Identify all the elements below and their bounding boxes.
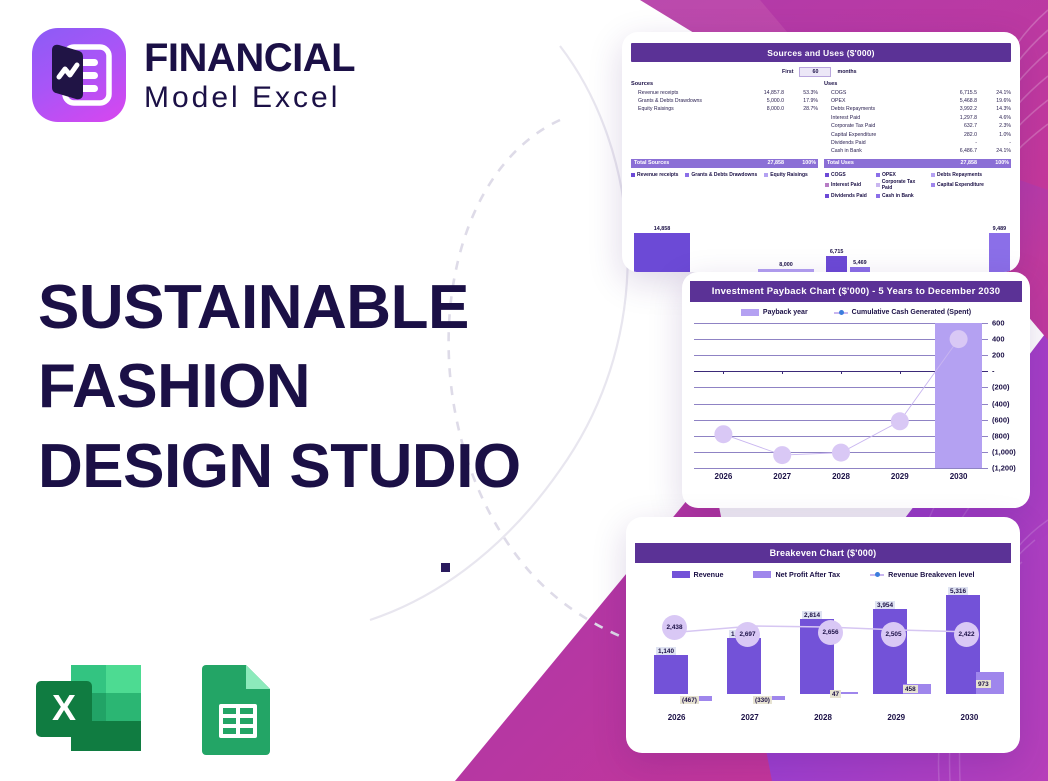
- table-row: Capital Expenditure 282.0 1.0%: [824, 131, 1011, 139]
- total-amount: 27,858: [933, 160, 977, 166]
- headline-line-2: FASHION: [38, 347, 521, 426]
- row-percent: 24.1%: [977, 89, 1011, 97]
- svg-text:X: X: [52, 687, 76, 728]
- y-tick-label: (1,200): [992, 464, 1016, 473]
- brand-logo: FINANCIAL Model Excel: [32, 28, 355, 122]
- legend-label: COGS: [831, 172, 846, 178]
- legend-label: Interest Paid: [831, 182, 861, 188]
- breakeven-bubble: 2,422: [954, 622, 979, 647]
- legend-item-net-profit: Net Profit After Tax: [753, 570, 840, 579]
- uses-total-row: Total Uses 27,858 100%: [824, 159, 1011, 168]
- chart-sources-bars: 14,858 5,000 8,000: [631, 206, 817, 272]
- payback-plot: 600 400 200 - (200) (400) (600) (800) (1…: [694, 323, 988, 468]
- legend-item: Dividends Paid: [825, 193, 869, 199]
- bar-value-label: 14,858: [654, 226, 671, 232]
- bar: [989, 233, 1009, 272]
- legend-label: Capital Expenditure: [937, 182, 984, 188]
- months-suffix-label: months: [837, 69, 856, 75]
- row-amount: 282.0: [933, 131, 977, 139]
- microsoft-excel-icon[interactable]: X: [34, 660, 146, 756]
- chart-document-icon: [32, 28, 126, 122]
- legend-label: OPEX: [882, 172, 896, 178]
- legend-label: Cash in Bank: [882, 193, 914, 199]
- x-tick-label: 2030: [929, 472, 988, 481]
- row-percent: -: [977, 139, 1011, 147]
- payback-title: Investment Payback Chart ($'000) - 5 Yea…: [690, 281, 1022, 302]
- y-tick-label: (400): [992, 399, 1010, 408]
- legend-uses: COGS OPEX Debts Repayments Interest Paid…: [825, 172, 1011, 201]
- row-percent: 14.3%: [977, 105, 1011, 113]
- legend-label: Revenue receipts: [637, 172, 678, 178]
- sources-total-row: Total Sources 27,858 100%: [631, 159, 818, 168]
- uses-table: Uses COGS 6,715.5 24.1% OPEX 5,468.8 19.…: [824, 81, 1011, 168]
- card-breakeven: Breakeven Chart ($'000) Revenue Net Prof…: [626, 517, 1020, 753]
- page-title: SUSTAINABLE FASHION DESIGN STUDIO: [38, 268, 521, 506]
- payback-y-axis: 600 400 200 - (200) (400) (600) (800) (1…: [988, 323, 1028, 468]
- bar: [826, 256, 846, 272]
- row-amount: 14,857.8: [740, 89, 784, 97]
- row-percent: 53.3%: [784, 89, 818, 97]
- y-tick-label: (1,000): [992, 447, 1016, 456]
- row-label: Interest Paid: [824, 114, 933, 122]
- legend-label: Grants & Debts Drawdowns: [691, 172, 757, 178]
- legend-sources: Revenue receipts Grants & Debts Drawdown…: [631, 172, 817, 201]
- legend-item: Grants & Debts Drawdowns: [685, 172, 757, 178]
- breakeven-bubble: 2,697: [735, 622, 760, 647]
- x-tick-label: 2028: [786, 713, 859, 722]
- net-profit-label: (467): [680, 696, 699, 704]
- y-tick-label: -: [992, 367, 995, 376]
- x-tick-label: 2027: [753, 472, 812, 481]
- legend-label: Revenue Breakeven level: [888, 570, 974, 579]
- y-tick-label: (200): [992, 383, 1010, 392]
- row-label: Equity Raisings: [631, 105, 740, 113]
- row-percent: 2.3%: [977, 122, 1011, 130]
- x-tick-label: 2028: [812, 472, 871, 481]
- table-row: OPEX 5,468.8 19.6%: [824, 97, 1011, 105]
- row-amount: 3,992.2: [933, 105, 977, 113]
- total-percent: 100%: [784, 160, 818, 166]
- legend-item: COGS: [825, 172, 869, 178]
- legend-label: Revenue: [694, 570, 724, 579]
- row-label: Corporate Tax Paid: [824, 122, 933, 130]
- brand-subtitle: Model Excel: [144, 83, 355, 113]
- card-investment-payback: Investment Payback Chart ($'000) - 5 Yea…: [682, 272, 1030, 508]
- legend-label: Cumulative Cash Generated (Spent): [852, 309, 971, 316]
- row-label: OPEX: [824, 97, 933, 105]
- legend-label: Dividends Paid: [831, 193, 867, 199]
- legend-label: Equity Raisings: [770, 172, 808, 178]
- total-percent: 100%: [977, 160, 1011, 166]
- cumulative-cash-markers: [694, 323, 988, 468]
- row-amount: -: [933, 139, 977, 147]
- x-tick-label: 2027: [713, 713, 786, 722]
- uses-heading: Uses: [824, 81, 1011, 87]
- row-label: Cash in Bank: [824, 147, 933, 155]
- row-amount: 6,486.7: [933, 147, 977, 155]
- legend-item: Interest Paid: [825, 179, 869, 191]
- payback-legend: Payback year Cumulative Cash Generated (…: [682, 309, 1030, 316]
- breakeven-plot: 1,140 (467) 2,438 1,848 (330) 2,697 2,81…: [640, 585, 1006, 695]
- row-amount: 8,000.0: [740, 105, 784, 113]
- legend-item: Equity Raisings: [764, 172, 808, 178]
- headline-line-3: DESIGN STUDIO: [38, 427, 521, 506]
- table-row: Cash in Bank 6,486.7 24.1%: [824, 147, 1011, 155]
- legend-item: OPEX: [876, 172, 924, 178]
- row-amount: 1,297.8: [933, 114, 977, 122]
- legend-item: Cash in Bank: [876, 193, 924, 199]
- breakeven-bubble: 2,438: [662, 615, 687, 640]
- row-label: COGS: [824, 89, 933, 97]
- legend-item: Debts Repayments: [931, 172, 982, 178]
- x-tick-label: 2026: [640, 713, 713, 722]
- legend-label: Corporate Tax Paid: [882, 179, 924, 191]
- breakeven-bubble: 2,505: [881, 622, 906, 647]
- y-tick-label: 200: [992, 351, 1005, 360]
- logo-mark: [32, 28, 126, 122]
- table-row: Grants & Debts Drawdowns 5,000.0 17.9%: [631, 97, 818, 105]
- google-sheets-icon[interactable]: [198, 660, 278, 756]
- sources-table: Sources Revenue receipts 14,857.8 53.3% …: [631, 81, 818, 168]
- breakeven-x-axis: 2026 2027 2028 2029 2030: [640, 713, 1006, 722]
- bar-value-label: 5,469: [853, 260, 867, 266]
- months-input[interactable]: 60: [799, 67, 831, 77]
- sources-uses-charts: 14,858 5,000 8,000 6,715: [622, 200, 1020, 272]
- legend-item-breakeven-level: Revenue Breakeven level: [870, 570, 974, 579]
- breakeven-legend: Revenue Net Profit After Tax Revenue Bre…: [626, 570, 1020, 579]
- x-tick-label: 2029: [870, 472, 929, 481]
- app-icons: X: [34, 660, 278, 756]
- x-tick-label: 2029: [860, 713, 933, 722]
- sources-uses-title: Sources and Uses ($'000): [631, 43, 1011, 62]
- bar: [634, 233, 690, 272]
- months-input-row: First 60 months: [622, 67, 1020, 77]
- row-label: Dividends Paid: [824, 139, 933, 147]
- y-tick-label: 400: [992, 335, 1005, 344]
- chart-uses-bars: 6,715 5,469 3,992 1,298 633 282 0 9,489: [825, 206, 1011, 272]
- headline-line-1: SUSTAINABLE: [38, 268, 521, 347]
- row-amount: 632.7: [933, 122, 977, 130]
- months-prefix-label: First: [782, 69, 793, 75]
- bar-value-label: 6,715: [830, 249, 844, 255]
- breakeven-title: Breakeven Chart ($'000): [635, 543, 1011, 563]
- card-sources-and-uses: Sources and Uses ($'000) First 60 months…: [622, 32, 1020, 272]
- y-tick-label: 600: [992, 319, 1005, 328]
- payback-x-axis: 2026 2027 2028 2029 2030: [694, 472, 988, 481]
- legend-label: Net Profit After Tax: [775, 570, 840, 579]
- legend-item-payback-year: Payback year: [741, 309, 808, 316]
- brand-title: FINANCIAL: [144, 38, 355, 78]
- legend-item: Capital Expenditure: [931, 179, 984, 191]
- poster-canvas: FINANCIAL Model Excel SUSTAINABLE FASHIO…: [0, 0, 1048, 781]
- table-row: Interest Paid 1,297.8 4.6%: [824, 114, 1011, 122]
- total-label: Total Uses: [824, 160, 933, 166]
- row-percent: 4.6%: [977, 114, 1011, 122]
- x-tick-label: 2030: [933, 713, 1006, 722]
- breakeven-bubble: 2,656: [818, 620, 843, 645]
- row-label: Grants & Debts Drawdowns: [631, 97, 740, 105]
- row-percent: 1.0%: [977, 131, 1011, 139]
- table-spacer: [631, 114, 818, 156]
- row-label: Revenue receipts: [631, 89, 740, 97]
- row-label: Capital Expenditure: [824, 131, 933, 139]
- row-percent: 28.7%: [784, 105, 818, 113]
- bar-value-label: 8,000: [779, 262, 793, 268]
- legend-label: Debts Repayments: [937, 172, 982, 178]
- total-amount: 27,858: [740, 160, 784, 166]
- table-row: Dividends Paid - -: [824, 139, 1011, 147]
- net-profit-label: (330): [753, 696, 772, 704]
- legend-item-revenue: Revenue: [672, 570, 724, 579]
- row-label: Debts Repayments: [824, 105, 933, 113]
- sources-heading: Sources: [631, 81, 818, 87]
- row-amount: 5,000.0: [740, 97, 784, 105]
- sources-uses-legends: Revenue receipts Grants & Debts Drawdown…: [622, 168, 1020, 201]
- legend-item: Corporate Tax Paid: [876, 179, 924, 191]
- y-tick-label: (600): [992, 415, 1010, 424]
- table-row: Revenue receipts 14,857.8 53.3%: [631, 89, 818, 97]
- legend-item-cumulative-cash: Cumulative Cash Generated (Spent): [834, 309, 971, 316]
- row-amount: 6,715.5: [933, 89, 977, 97]
- x-tick-label: 2026: [694, 472, 753, 481]
- bar-value-label: 9,489: [993, 226, 1007, 232]
- table-row: Corporate Tax Paid 632.7 2.3%: [824, 122, 1011, 130]
- total-label: Total Sources: [631, 160, 740, 166]
- y-tick-label: (800): [992, 431, 1010, 440]
- legend-item: Revenue receipts: [631, 172, 678, 178]
- row-percent: 19.6%: [977, 97, 1011, 105]
- row-percent: 17.9%: [784, 97, 818, 105]
- legend-label: Payback year: [763, 309, 808, 316]
- row-amount: 5,468.8: [933, 97, 977, 105]
- table-row: COGS 6,715.5 24.1%: [824, 89, 1011, 97]
- row-percent: 24.1%: [977, 147, 1011, 155]
- table-row: Equity Raisings 8,000.0 28.7%: [631, 105, 818, 113]
- sources-uses-tables: Sources Revenue receipts 14,857.8 53.3% …: [622, 81, 1020, 168]
- table-row: Debts Repayments 3,992.2 14.3%: [824, 105, 1011, 113]
